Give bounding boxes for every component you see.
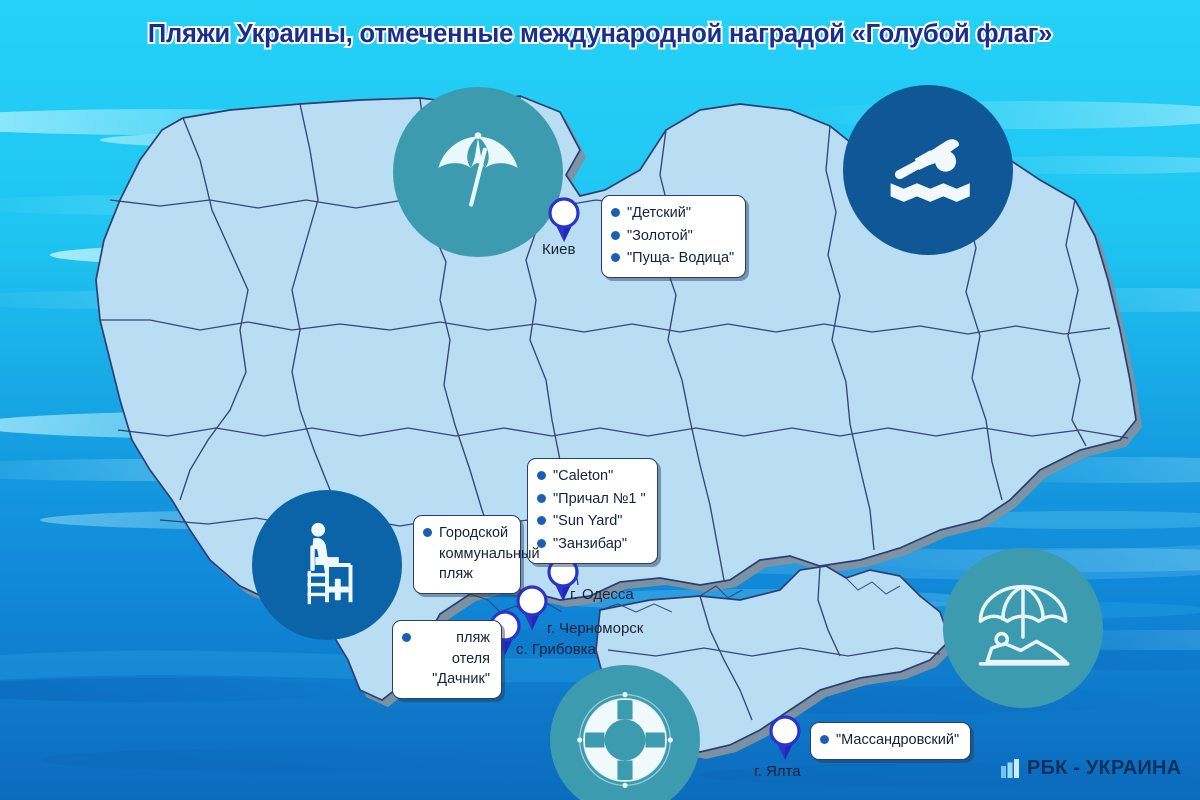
list-item: "Причал №1 "	[537, 489, 646, 510]
life-ring-glyph	[571, 686, 679, 794]
map-pin-kyiv[interactable]	[547, 197, 581, 243]
list-item: пляж отеля "Дачник"	[402, 628, 490, 690]
page-title: Пляжи Украины, отмеченные международной …	[148, 20, 1052, 49]
infographic-canvas: Киев г. Одесса г. Черноморск с. Грибовка…	[0, 0, 1200, 800]
sunbather-umbrella-glyph	[967, 572, 1079, 684]
beach-umbrella-glyph	[426, 120, 530, 224]
swimmer-icon	[843, 85, 1013, 255]
lifeguard-chair-glyph	[278, 516, 376, 614]
list-item: "Детский"	[611, 203, 734, 224]
callout-yalta[interactable]: "Массандровский"	[810, 722, 971, 760]
bullet-dot-icon	[537, 471, 546, 480]
list-item: "Caleton"	[537, 466, 646, 487]
city-label-kyiv: Киев	[542, 241, 575, 258]
beach-umbrella-icon	[393, 87, 563, 257]
list-item: "Занзибар"	[537, 534, 646, 555]
bullet-dot-icon	[611, 208, 620, 217]
list-item: "Золотой"	[611, 226, 734, 247]
map-pin-glyph	[547, 197, 581, 243]
list-item: "Массандровский"	[820, 730, 959, 751]
city-label-yalta: г. Ялта	[754, 763, 801, 780]
list-item: "Sun Yard"	[537, 511, 646, 532]
bullet-dot-icon	[537, 494, 546, 503]
city-label-odessa: г. Одесса	[570, 586, 634, 603]
swimmer-glyph	[873, 115, 983, 225]
bullet-dot-icon	[611, 253, 620, 262]
logo-text: РБК - УКРАИНА	[1027, 757, 1181, 780]
callout-chornomorsk[interactable]: Городской коммунальный пляж	[413, 515, 521, 594]
life-ring-icon	[550, 665, 700, 800]
page-title-wrap: Пляжи Украины, отмеченные международной …	[0, 20, 1200, 49]
bullet-dot-icon	[402, 633, 411, 642]
bullet-dot-icon	[820, 735, 829, 744]
city-label-hrybivka: с. Грибовка	[516, 641, 596, 658]
callout-hrybivka[interactable]: пляж отеля "Дачник"	[392, 620, 502, 699]
bullet-dot-icon	[423, 528, 432, 537]
rbc-ukraine-logo[interactable]: РБК - УКРАИНА	[1000, 757, 1181, 780]
callout-odessa[interactable]: "Caleton" "Причал №1 " "Sun Yard" "Занзи…	[527, 458, 658, 564]
callout-kyiv[interactable]: "Детский" "Золотой" "Пуща- Водица"	[601, 195, 746, 278]
lifeguard-chair-icon	[252, 490, 402, 640]
map-pin-yalta[interactable]	[768, 715, 802, 761]
bullet-dot-icon	[611, 231, 620, 240]
sunbather-umbrella-icon	[943, 548, 1103, 708]
list-item: Городской коммунальный пляж	[423, 523, 509, 585]
map-pin-glyph	[768, 715, 802, 761]
list-item: "Пуща- Водица"	[611, 248, 734, 269]
rbc-bars-icon	[1000, 759, 1022, 779]
city-label-chornomorsk: г. Черноморск	[547, 620, 643, 637]
